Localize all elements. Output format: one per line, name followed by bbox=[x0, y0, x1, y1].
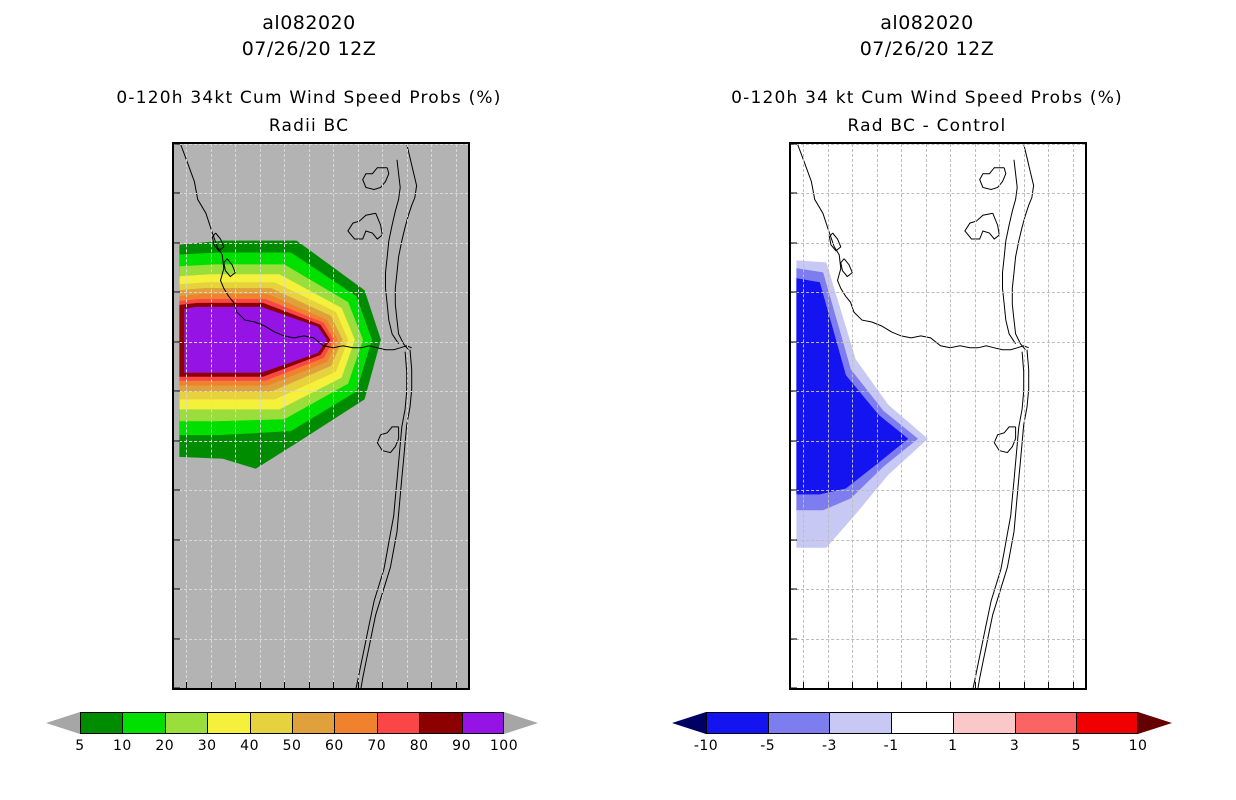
y-tick-mark bbox=[174, 242, 180, 243]
colorbar-segment bbox=[80, 712, 122, 734]
colorbar-segment bbox=[829, 712, 891, 734]
colorbar-segment bbox=[891, 712, 953, 734]
gridline-horizontal bbox=[174, 193, 468, 195]
y-tick-mark bbox=[791, 341, 797, 342]
gridline-horizontal bbox=[791, 441, 1085, 443]
probability-colorbar: 5102030405060708090100 bbox=[46, 712, 538, 770]
coastline bbox=[841, 259, 853, 277]
gridline-horizontal bbox=[174, 441, 468, 443]
gridline-horizontal bbox=[174, 391, 468, 393]
x-tick-mark bbox=[803, 682, 804, 688]
y-tick-mark bbox=[174, 688, 180, 689]
y-tick-mark bbox=[174, 341, 180, 342]
colorbar-tick-label: 10 bbox=[113, 738, 132, 754]
gridline-vertical bbox=[235, 144, 237, 688]
gridline-horizontal bbox=[791, 540, 1085, 542]
x-tick-mark bbox=[309, 682, 310, 688]
colorbar-segment bbox=[250, 712, 292, 734]
gridline-vertical bbox=[456, 144, 458, 688]
gridline-vertical bbox=[284, 144, 286, 688]
gridline-horizontal bbox=[791, 342, 1085, 344]
colorbar-segment bbox=[1076, 712, 1138, 734]
colorbar-tick-label: 10 bbox=[1129, 738, 1148, 754]
y-tick-mark bbox=[174, 638, 180, 639]
gridline-horizontal bbox=[791, 688, 1085, 690]
gridline-vertical bbox=[186, 144, 188, 688]
contour-overlay-left bbox=[174, 144, 468, 688]
colorbar-bar bbox=[46, 712, 538, 734]
colorbar-tick-label: 5 bbox=[1072, 738, 1081, 754]
gridline-vertical bbox=[926, 144, 928, 688]
x-tick-mark bbox=[431, 682, 432, 688]
gridline-vertical bbox=[901, 144, 903, 688]
colorbar-bar bbox=[672, 712, 1172, 734]
colorbar-segment bbox=[1015, 712, 1077, 734]
colorbar-arrow-low bbox=[672, 712, 706, 734]
x-tick-mark bbox=[828, 682, 829, 688]
y-tick-mark bbox=[174, 391, 180, 392]
x-tick-mark bbox=[456, 682, 457, 688]
x-tick-mark bbox=[1024, 682, 1025, 688]
y-tick-mark bbox=[791, 688, 797, 689]
right-subtitle: Rad BC - Control bbox=[618, 116, 1236, 136]
map-plot-difference: 28N27.5N27N26.5N26N25.5N25N24.5N24N23.5N… bbox=[789, 142, 1087, 690]
left-date: 07/26/20 12Z bbox=[0, 38, 618, 60]
colorbar-tick-label: 30 bbox=[198, 738, 217, 754]
coastline bbox=[348, 213, 382, 239]
colorbar-tick-label: 3 bbox=[1010, 738, 1019, 754]
x-tick-mark bbox=[284, 682, 285, 688]
gridline-vertical bbox=[407, 144, 409, 688]
gridline-vertical bbox=[1073, 144, 1075, 688]
x-tick-mark bbox=[926, 682, 927, 688]
colorbar-segment bbox=[706, 712, 768, 734]
contour-overlay-right bbox=[791, 144, 1085, 688]
gridline-vertical bbox=[358, 144, 360, 688]
gridline-vertical bbox=[803, 144, 805, 688]
gridline-horizontal bbox=[791, 292, 1085, 294]
y-tick-mark bbox=[174, 292, 180, 293]
gridline-horizontal bbox=[174, 589, 468, 591]
y-tick-mark bbox=[791, 144, 797, 145]
x-tick-mark bbox=[186, 682, 187, 688]
colorbar-tick-label: -5 bbox=[760, 738, 775, 754]
left-title: 0-120h 34kt Cum Wind Speed Probs (%) bbox=[0, 88, 618, 108]
colorbar-tick-label: 50 bbox=[283, 738, 302, 754]
colorbar-tick-label: 100 bbox=[490, 738, 518, 754]
coastline bbox=[361, 350, 412, 688]
colorbar-tick-label: 20 bbox=[155, 738, 174, 754]
colorbar-tick-label: 80 bbox=[410, 738, 429, 754]
gridline-horizontal bbox=[791, 639, 1085, 641]
gridline-vertical bbox=[1048, 144, 1050, 688]
gridline-vertical bbox=[999, 144, 1001, 688]
colorbar-segment bbox=[334, 712, 376, 734]
difference-colorbar: -10-5-3-113510 bbox=[672, 712, 1172, 770]
y-tick-mark bbox=[174, 539, 180, 540]
right-title: 0-120h 34 kt Cum Wind Speed Probs (%) bbox=[618, 88, 1236, 108]
gridline-horizontal bbox=[174, 490, 468, 492]
left-subtitle: Radii BC bbox=[0, 116, 618, 136]
gridline-horizontal bbox=[791, 391, 1085, 393]
gridline-vertical bbox=[211, 144, 213, 688]
colorbar-tick-label: 40 bbox=[240, 738, 259, 754]
colorbar-segment bbox=[953, 712, 1015, 734]
x-tick-mark bbox=[333, 682, 334, 688]
x-tick-mark bbox=[999, 682, 1000, 688]
gridline-vertical bbox=[877, 144, 879, 688]
y-tick-mark bbox=[174, 589, 180, 590]
colorbar-tick-label: 1 bbox=[948, 738, 957, 754]
x-tick-mark bbox=[382, 682, 383, 688]
gridline-horizontal bbox=[791, 490, 1085, 492]
coastline bbox=[980, 168, 1006, 190]
x-tick-mark bbox=[1073, 682, 1074, 688]
wind-speed-probability-figure: al082020 07/26/20 12Z 0-120h 34kt Cum Wi… bbox=[0, 0, 1236, 800]
x-tick-mark bbox=[235, 682, 236, 688]
gridline-vertical bbox=[975, 144, 977, 688]
y-tick-mark bbox=[174, 440, 180, 441]
y-tick-mark bbox=[791, 193, 797, 194]
x-tick-mark bbox=[852, 682, 853, 688]
gridline-vertical bbox=[431, 144, 433, 688]
x-tick-mark bbox=[975, 682, 976, 688]
gridline-horizontal bbox=[174, 688, 468, 690]
x-tick-mark bbox=[211, 682, 212, 688]
gridline-horizontal bbox=[791, 589, 1085, 591]
y-tick-mark bbox=[791, 391, 797, 392]
colorbar-arrow-low bbox=[46, 712, 80, 734]
right-storm-id: al082020 bbox=[618, 12, 1236, 34]
gridline-vertical bbox=[309, 144, 311, 688]
x-tick-mark bbox=[877, 682, 878, 688]
gridline-horizontal bbox=[174, 292, 468, 294]
y-tick-mark bbox=[174, 144, 180, 145]
colorbar-tick-label: 70 bbox=[367, 738, 386, 754]
colorbar-tick-label: 60 bbox=[325, 738, 344, 754]
colorbar-tick-label: 5 bbox=[75, 738, 84, 754]
y-tick-mark bbox=[174, 193, 180, 194]
gridline-horizontal bbox=[791, 243, 1085, 245]
coastline bbox=[386, 160, 401, 344]
x-tick-mark bbox=[407, 682, 408, 688]
colorbar-arrow-high bbox=[504, 712, 538, 734]
gridline-vertical bbox=[333, 144, 335, 688]
gridline-horizontal bbox=[174, 540, 468, 542]
left-storm-id: al082020 bbox=[0, 12, 618, 34]
colorbar-segment bbox=[207, 712, 249, 734]
x-tick-mark bbox=[358, 682, 359, 688]
gridline-vertical bbox=[382, 144, 384, 688]
colorbar-segment bbox=[377, 712, 419, 734]
gridline-vertical bbox=[852, 144, 854, 688]
x-tick-mark bbox=[950, 682, 951, 688]
y-tick-mark bbox=[791, 292, 797, 293]
colorbar-segment bbox=[292, 712, 334, 734]
y-tick-mark bbox=[791, 638, 797, 639]
gridline-horizontal bbox=[174, 342, 468, 344]
colorbar-segment bbox=[165, 712, 207, 734]
gridline-horizontal bbox=[174, 639, 468, 641]
gridline-horizontal bbox=[174, 144, 468, 146]
colorbar-arrow-high bbox=[1138, 712, 1172, 734]
y-tick-mark bbox=[174, 490, 180, 491]
colorbar-segment bbox=[419, 712, 461, 734]
coastline bbox=[363, 168, 389, 190]
y-tick-mark bbox=[791, 242, 797, 243]
colorbar-tick-label: -10 bbox=[694, 738, 718, 754]
coastline bbox=[965, 213, 999, 239]
colorbar-tick-label: 90 bbox=[452, 738, 471, 754]
y-tick-mark bbox=[791, 440, 797, 441]
colorbar-segment bbox=[768, 712, 830, 734]
gridline-vertical bbox=[828, 144, 830, 688]
gridline-horizontal bbox=[791, 193, 1085, 195]
colorbar-tick-label: -3 bbox=[822, 738, 837, 754]
map-plot-radii-bc: 28N27.5N27N26.5N26N25.5N25N24.5N24N23.5N… bbox=[172, 142, 470, 690]
x-tick-mark bbox=[260, 682, 261, 688]
gridline-vertical bbox=[1024, 144, 1026, 688]
colorbar-segment bbox=[122, 712, 164, 734]
y-tick-mark bbox=[791, 490, 797, 491]
gridline-vertical bbox=[260, 144, 262, 688]
colorbar-segment bbox=[462, 712, 504, 734]
coastline bbox=[1003, 160, 1018, 344]
gridline-horizontal bbox=[791, 144, 1085, 146]
colorbar-tick-label: -1 bbox=[884, 738, 899, 754]
x-tick-mark bbox=[1048, 682, 1049, 688]
coastline bbox=[978, 350, 1029, 688]
y-tick-mark bbox=[791, 589, 797, 590]
gridline-vertical bbox=[950, 144, 952, 688]
y-tick-mark bbox=[791, 539, 797, 540]
gridline-horizontal bbox=[174, 243, 468, 245]
right-date: 07/26/20 12Z bbox=[618, 38, 1236, 60]
x-tick-mark bbox=[901, 682, 902, 688]
